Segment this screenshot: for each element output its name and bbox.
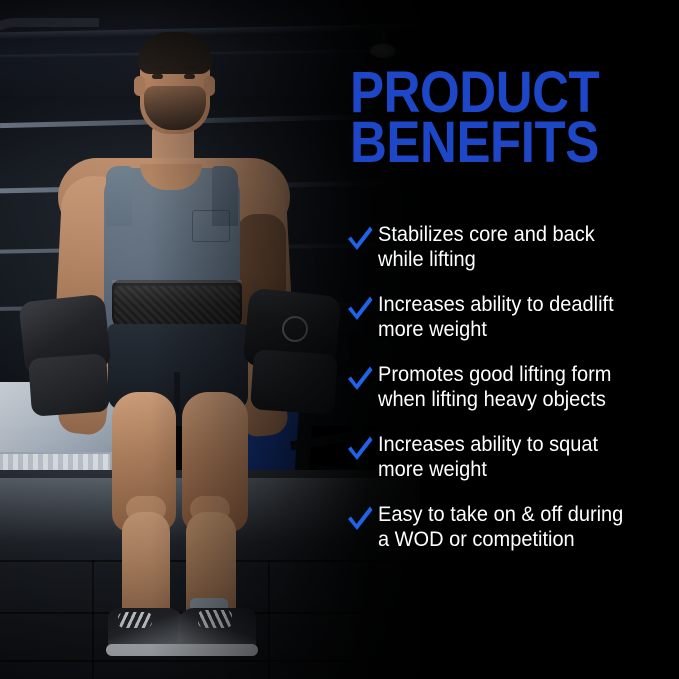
check-icon (346, 294, 374, 324)
benefit-item: Stabilizes core and back while lifting (346, 222, 679, 271)
check-icon (346, 364, 374, 394)
check-icon (346, 504, 374, 534)
benefit-item: Promotes good lifting form when lifting … (346, 362, 679, 411)
headline-line-2: BENEFITS (350, 118, 637, 168)
benefit-text: Increases ability to deadlift more weigh… (378, 292, 658, 341)
page-title: PRODUCT BENEFITS (350, 68, 676, 168)
benefits-list: Stabilizes core and back while lifting I… (346, 222, 679, 572)
benefit-text: Promotes good lifting form when lifting … (378, 362, 658, 411)
benefit-item: Easy to take on & off during a WOD or co… (346, 502, 679, 551)
product-benefits-graphic: PRODUCT BENEFITS Stabilizes core and bac… (0, 0, 679, 679)
benefit-item: Increases ability to deadlift more weigh… (346, 292, 679, 341)
benefit-text: Easy to take on & off during a WOD or co… (378, 502, 658, 551)
benefit-text: Stabilizes core and back while lifting (378, 222, 658, 271)
benefit-item: Increases ability to squat more weight (346, 432, 679, 481)
check-icon (346, 434, 374, 464)
check-icon (346, 224, 374, 254)
benefits-panel: PRODUCT BENEFITS Stabilizes core and bac… (344, 0, 679, 679)
benefit-text: Increases ability to squat more weight (378, 432, 658, 481)
